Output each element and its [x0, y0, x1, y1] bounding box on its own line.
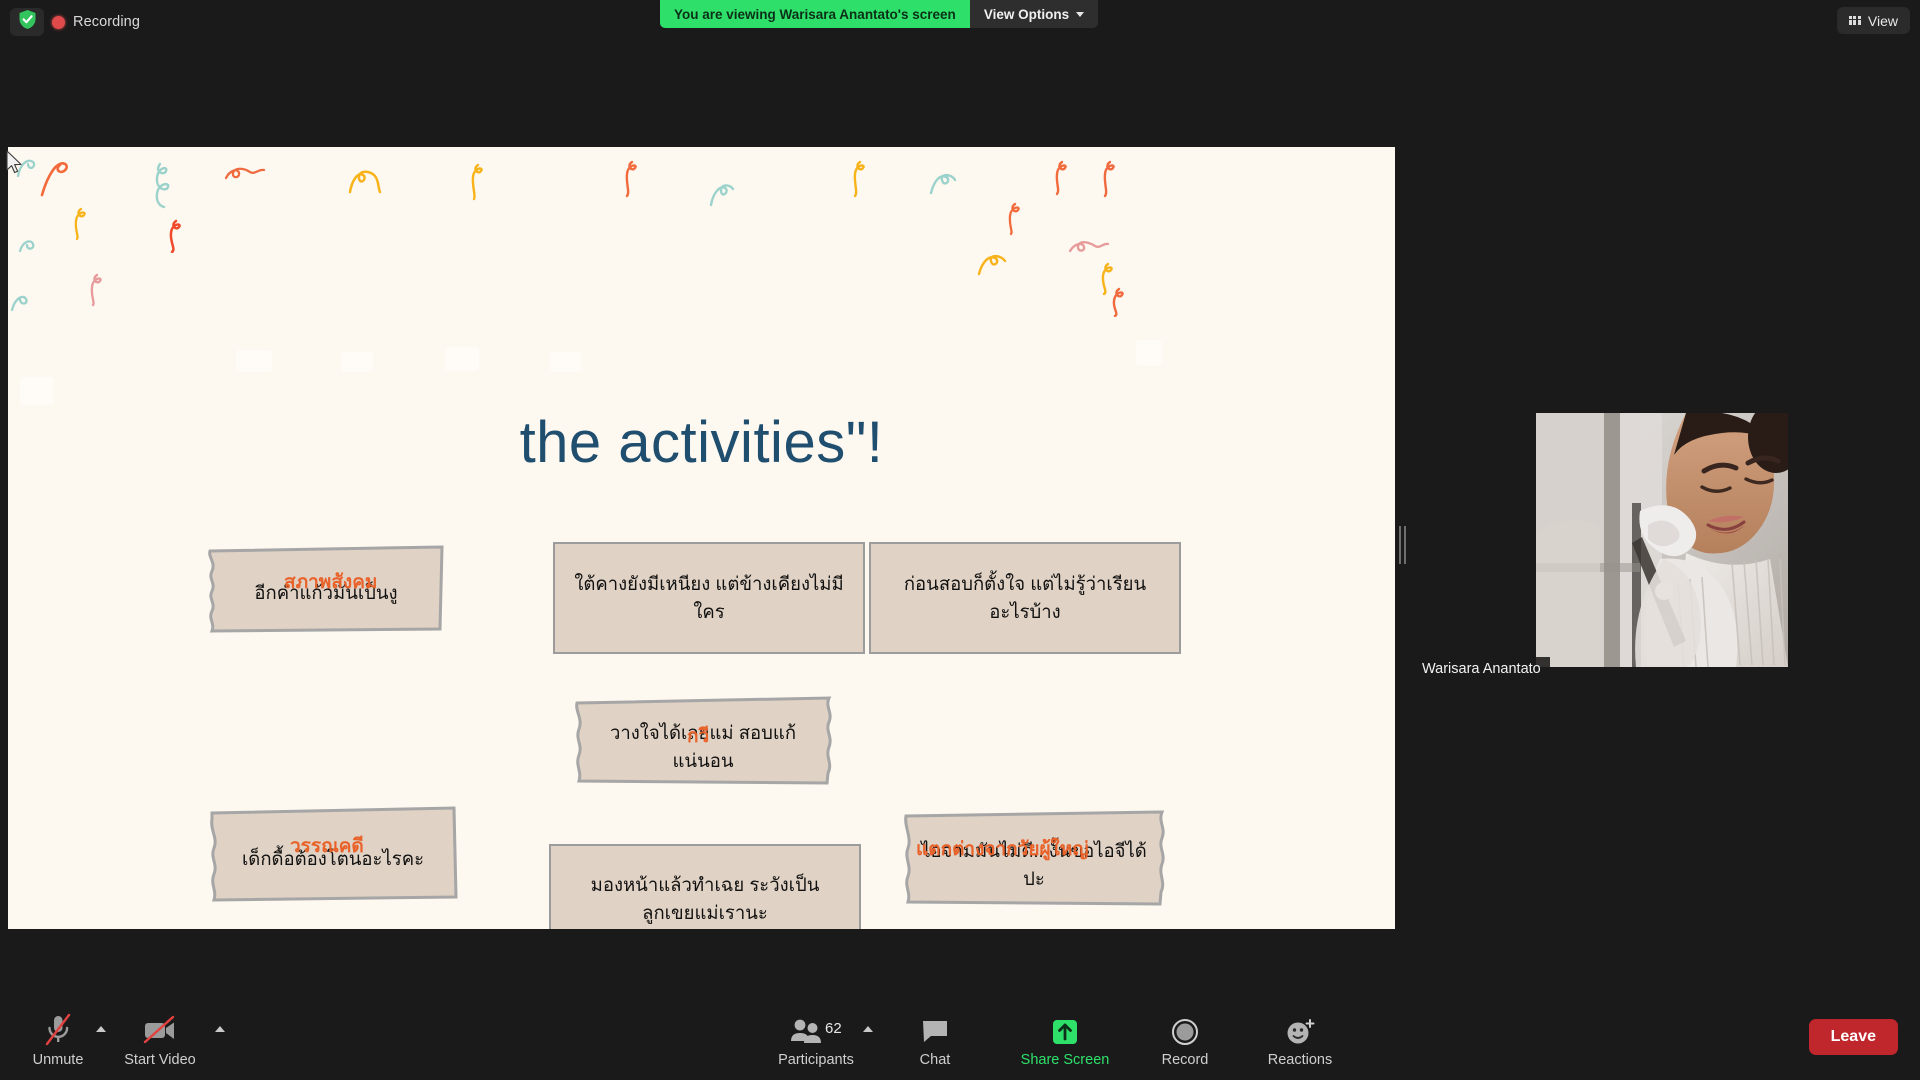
- sticky-note-5[interactable]: วรรณคดี เด็กดื้อต้องโตนอะไรคะ: [206, 805, 460, 903]
- smiley-plus-icon: [1284, 1013, 1316, 1047]
- shared-screen-content[interactable]: the activities"! สภาพสังคม อีกคำแก้วมันเ…: [8, 147, 1395, 929]
- sticky-note-5-overlay: วรรณคดี: [290, 831, 364, 861]
- chevron-down-icon: [1076, 12, 1084, 17]
- decorative-shape: [341, 352, 373, 372]
- panel-resize-handle[interactable]: [1396, 525, 1408, 565]
- screen-share-banner: You are viewing Warisara Anantato's scre…: [660, 0, 1098, 28]
- reactions-button[interactable]: Reactions: [1210, 1013, 1390, 1068]
- shield-check-icon: [18, 9, 37, 35]
- squiggle-doodle: [10, 292, 36, 314]
- audio-options-caret-icon[interactable]: [96, 1026, 106, 1032]
- sticky-note-7[interactable]: แตกต่างจากวัยผู้ใหญ่ ไอจามมันไม่ดี.. งั้…: [898, 810, 1170, 908]
- decorative-shape: [236, 350, 272, 372]
- record-dot-icon: [52, 16, 65, 29]
- slide-title: the activities"!: [8, 409, 1395, 476]
- grid-layout-icon: [1849, 16, 1861, 26]
- recording-indicator[interactable]: Recording: [52, 8, 140, 36]
- squiggle-doodle: [976, 252, 1008, 278]
- squiggle-doodle: [163, 219, 189, 253]
- squiggle-doodle: [84, 273, 108, 307]
- recording-label: Recording: [73, 14, 140, 30]
- video-options-caret-icon[interactable]: [215, 1026, 225, 1032]
- sticky-note-1[interactable]: สภาพสังคม อีกคำแก้วมันเป็นงู: [206, 545, 446, 633]
- participant-video-tile[interactable]: [1536, 413, 1788, 667]
- squiggle-doodle: [18, 237, 46, 255]
- start-video-label: Start Video: [124, 1052, 195, 1068]
- unmute-button[interactable]: Unmute: [10, 1013, 106, 1068]
- decorative-shape: [445, 347, 479, 371]
- mouse-cursor-icon: [6, 150, 24, 176]
- view-options-button[interactable]: View Options: [970, 0, 1098, 28]
- decorative-shape: [1136, 340, 1162, 366]
- squiggle-doodle: [616, 160, 642, 198]
- sticky-note-7-overlay: แตกต่างจากวัยผู้ใหญ่: [916, 834, 1089, 864]
- squiggle-doodle: [224, 164, 266, 186]
- sticky-note-6-text: มองหน้าแล้วทำเฉย ระวังเป็น ลูกเขยแม่เราน…: [567, 871, 843, 927]
- squiggle-doodle: [464, 163, 488, 201]
- sticky-note-2-text: ใต้คางยังมีเหนียง แต่ข้างเคียงไม่มีใคร: [571, 570, 847, 626]
- squiggle-doodle: [1092, 262, 1120, 296]
- camera-off-icon: [142, 1013, 178, 1047]
- squiggle-doodle: [708, 181, 736, 207]
- zoom-meeting-window: Recording You are viewing Warisara Anant…: [0, 0, 1920, 1080]
- view-layout-button[interactable]: View: [1837, 7, 1910, 34]
- view-button-label: View: [1868, 13, 1898, 29]
- sticky-note-2[interactable]: ใต้คางยังมีเหนียง แต่ข้างเคียงไม่มีใคร: [553, 542, 865, 654]
- unmute-label: Unmute: [33, 1052, 84, 1068]
- meeting-toolbar: Unmute Start Video: [0, 980, 1920, 1080]
- squiggle-doodle: [1046, 160, 1072, 196]
- sticky-note-3[interactable]: ก่อนสอบก็ตั้งใจ แต่ไม่รู้ว่าเรียนอะไรบ้า…: [869, 542, 1181, 654]
- speech-bubble-icon: [920, 1013, 950, 1047]
- squiggle-doodle: [1094, 160, 1120, 198]
- people-icon: 62: [789, 1013, 843, 1047]
- leave-button[interactable]: Leave: [1809, 1019, 1898, 1055]
- participants-caret-icon[interactable]: [863, 1026, 873, 1032]
- squiggle-doodle: [1103, 287, 1131, 317]
- squiggle-doodle: [1001, 202, 1027, 236]
- squiggle-doodle: [146, 162, 176, 210]
- sharing-message: You are viewing Warisara Anantato's scre…: [660, 0, 970, 28]
- sticky-note-1-overlay: สภาพสังคม: [284, 567, 377, 597]
- participants-button[interactable]: 62 Participants: [756, 1013, 876, 1068]
- squiggle-doodle: [348, 168, 384, 196]
- share-arrow-up-icon: [1050, 1013, 1080, 1047]
- record-circle-icon: [1170, 1013, 1200, 1047]
- sticky-note-3-text: ก่อนสอบก็ตั้งใจ แต่ไม่รู้ว่าเรียนอะไรบ้า…: [887, 570, 1163, 626]
- top-bar: Recording You are viewing Warisara Anant…: [0, 0, 1920, 42]
- participant-name-label: Warisara Anantato: [1413, 657, 1550, 682]
- microphone-muted-icon: [43, 1013, 73, 1047]
- squiggle-doodle: [844, 160, 870, 198]
- squiggle-doodle: [38, 157, 74, 199]
- reactions-label: Reactions: [1268, 1052, 1332, 1068]
- start-video-button[interactable]: Start Video: [112, 1013, 208, 1068]
- squiggle-doodle: [928, 171, 958, 197]
- sticky-note-4-overlay: กวี: [687, 721, 709, 751]
- sticky-note-6[interactable]: มองหน้าแล้วทำเฉย ระวังเป็น ลูกเขยแม่เราน…: [549, 844, 861, 929]
- svg-text:62: 62: [825, 1020, 842, 1037]
- participant-photo: [1536, 413, 1788, 667]
- decorative-shape: [20, 377, 54, 405]
- sticky-note-4[interactable]: กวี วางใจได้เลยแม่ สอบแก้แน่นอน: [571, 695, 835, 787]
- squiggle-doodle: [68, 207, 92, 241]
- record-label: Record: [1162, 1052, 1209, 1068]
- chat-label: Chat: [920, 1052, 951, 1068]
- chat-button[interactable]: Chat: [887, 1013, 983, 1068]
- decorative-shape: [550, 352, 582, 372]
- view-options-label: View Options: [984, 7, 1069, 22]
- share-screen-label: Share Screen: [1021, 1052, 1110, 1068]
- participants-label: Participants: [778, 1052, 854, 1068]
- security-shield-button[interactable]: [10, 8, 44, 36]
- squiggle-doodle: [1068, 237, 1110, 259]
